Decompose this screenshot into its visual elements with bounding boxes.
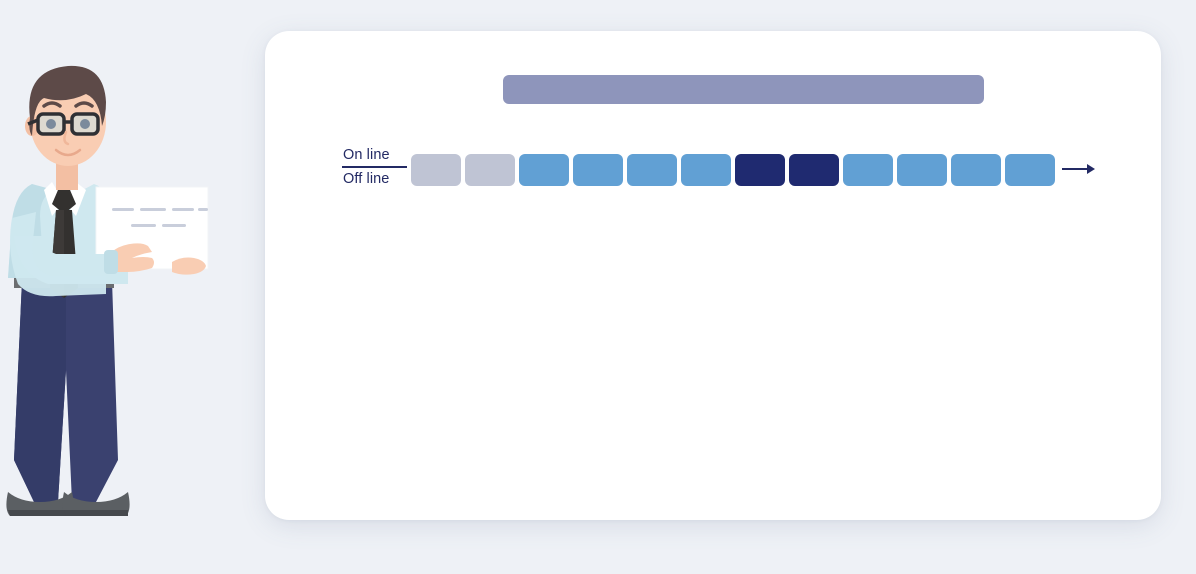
- axis-label-online: On line: [343, 145, 399, 165]
- character-shoes: [6, 492, 129, 516]
- character-trousers: [14, 280, 118, 502]
- glasses-icon: [28, 114, 98, 134]
- timeline-block-1[interactable]: [411, 154, 461, 186]
- timeline-block-9[interactable]: [843, 154, 893, 186]
- axis-divider: [342, 166, 407, 168]
- timeline-block-8[interactable]: [789, 154, 839, 186]
- timeline-block-7[interactable]: [735, 154, 785, 186]
- timeline-arrow-line: [1062, 168, 1090, 170]
- timeline-blocks: [411, 154, 1055, 186]
- timeline-block-11[interactable]: [951, 154, 1001, 186]
- content-card: On line Off line: [265, 31, 1161, 520]
- timeline-block-3[interactable]: [519, 154, 569, 186]
- character-head: [25, 66, 106, 166]
- timeline-block-5[interactable]: [627, 154, 677, 186]
- status-timeline: On line Off line: [343, 119, 1153, 199]
- timeline-block-6[interactable]: [681, 154, 731, 186]
- timeline-arrow-head-icon: [1087, 164, 1095, 174]
- teacher-illustration: [0, 40, 215, 520]
- axis-label-offline: Off line: [343, 169, 399, 189]
- timeline-block-4[interactable]: [573, 154, 623, 186]
- timeline-block-12[interactable]: [1005, 154, 1055, 186]
- header-title-bar: [503, 75, 984, 104]
- timeline-block-2[interactable]: [465, 154, 515, 186]
- timeline-axis-labels: On line Off line: [343, 145, 399, 189]
- timeline-block-10[interactable]: [897, 154, 947, 186]
